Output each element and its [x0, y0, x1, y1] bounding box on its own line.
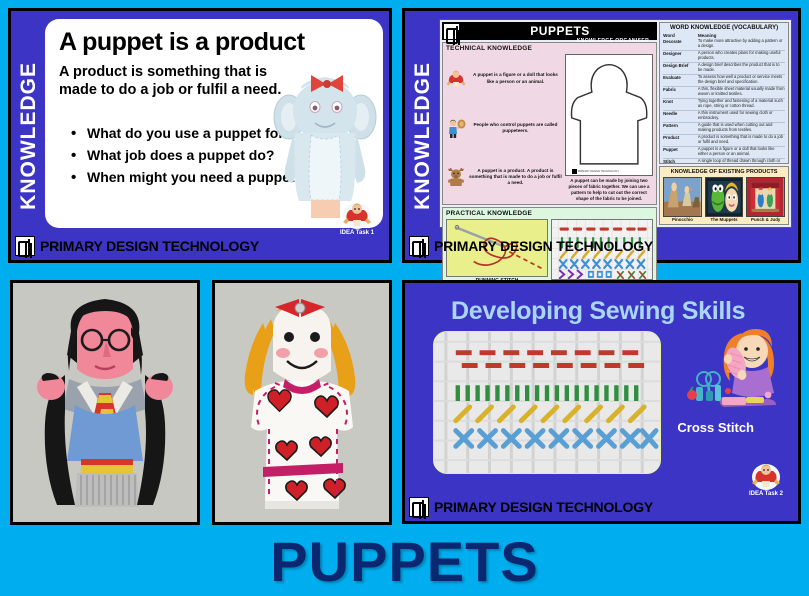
list-item: Pinocchio [663, 177, 702, 222]
knowledge-rail: KNOWLEDGE [15, 15, 41, 256]
vocabulary-meaning: Tying together and fastening of a materi… [698, 99, 785, 109]
vocabulary-table-body: DecorateTo make more attractive by addin… [663, 39, 785, 164]
vocabulary-meaning: A guide that is used when cutting out an… [698, 123, 785, 133]
technical-facts-list: A puppet is a figure or a doll that look… [446, 54, 562, 202]
organiser-right-column: WORD KNOWLEDGE (VOCABULARY) Word Meaning… [659, 22, 789, 225]
vocabulary-meaning: A thin, flexible sheet material usually … [698, 87, 785, 97]
photo-girl-puppet[interactable] [212, 280, 392, 525]
product-caption: Pinocchio [663, 217, 702, 222]
vocabulary-meaning: To make more attractive by adding a patt… [698, 39, 785, 49]
vocabulary-meaning: To assess how well a product or service … [698, 75, 785, 85]
table-row: FabricA thin, flexible sheet material us… [663, 86, 785, 98]
template-caption: A puppet can be made by joining two piec… [565, 176, 653, 202]
vocabulary-word: Designer [663, 51, 695, 61]
section-title: PRACTICAL KNOWLEDGE [446, 210, 653, 217]
table-row: DesignerA person who creates plans for m… [663, 50, 785, 62]
knowledge-organiser-sheet: PUPPETS KNOWLEDGE ORGANISER TECHNICAL KN… [439, 19, 792, 228]
slide-knowledge-organiser[interactable]: KNOWLEDGE PUPPETS KNOWLEDGE ORGANISER TE… [402, 8, 801, 263]
technical-knowledge-section: TECHNICAL KNOWLEDGE [442, 42, 657, 205]
fact-text: A puppet is a figure or a doll that look… [469, 72, 562, 84]
idea-task-badge: IDEA Task 1 [331, 201, 383, 236]
dt-logo-icon [409, 497, 429, 517]
vocabulary-meaning: A design brief describes the product tha… [698, 63, 785, 73]
slide-heading: Developing Sewing Skills [451, 297, 745, 326]
moose-puppet-icon [446, 167, 466, 187]
table-row: Design BriefA design brief describes the… [663, 62, 785, 74]
section-title: TECHNICAL KNOWLEDGE [446, 45, 653, 52]
slide-footer: PRIMARY DESIGN TECHNOLOGY [15, 235, 385, 257]
existing-products-section: KNOWLEDGE OF EXISTING PRODUCTS [659, 166, 789, 225]
fact-text: People who control puppets are called pu… [469, 122, 562, 134]
vocabulary-word: Evaluate [663, 75, 695, 85]
table-row: EvaluateTo assess how well a product or … [663, 74, 785, 86]
column-header-meaning: Meaning [698, 33, 785, 39]
footer-brand-text: PRIMARY DESIGN TECHNOLOGY [40, 238, 259, 254]
knowledge-rail-label: KNOWLEDGE [412, 62, 433, 210]
table-row: DecorateTo make more attractive by addin… [663, 39, 785, 50]
vocabulary-word: Decorate [663, 39, 695, 49]
vocabulary-meaning: A single loop of thread drawn through cl… [698, 159, 785, 163]
vocabulary-word: Needle [663, 111, 695, 121]
column-header-word: Word [663, 33, 695, 39]
photo-boy-puppet[interactable] [10, 280, 200, 525]
vocabulary-meaning: A product is something that is made to d… [698, 135, 785, 145]
table-row: PuppetA puppet is a figure or a doll tha… [663, 146, 785, 158]
table-row: KnotTying together and fastening of a ma… [663, 98, 785, 110]
vocabulary-meaning: A thin instrument used for sewing cloth … [698, 111, 785, 121]
slide-knowledge-puppet-is-a-product[interactable]: KNOWLEDGE A puppet is a product A produc… [8, 8, 392, 263]
page-title: PUPPETS [0, 534, 809, 590]
list-item: People who control puppets are called pu… [446, 118, 562, 138]
punch-puppet-icon [342, 201, 372, 229]
vocabulary-word: Knot [663, 99, 695, 109]
vocabulary-title: WORD KNOWLEDGE (VOCABULARY) [663, 25, 785, 31]
slide-footer: PRIMARY DESIGN TECHNOLOGY [409, 235, 794, 257]
cross-stitch-label: Cross Stitch [677, 420, 754, 435]
organiser-title: PUPPETS [530, 24, 590, 38]
vocabulary-meaning: A person who creates plans for making us… [698, 51, 785, 61]
footer-brand-text: PRIMARY DESIGN TECHNOLOGY [434, 499, 653, 515]
fact-text: A puppet is a product. A product is some… [469, 168, 562, 187]
girl-sewing-image [680, 323, 790, 418]
vocabulary-word: Stitch [663, 159, 695, 163]
slide-heading: A puppet is a product [59, 28, 383, 57]
muppets-image [705, 177, 744, 217]
knowledge-rail-label: KNOWLEDGE [18, 62, 39, 210]
stitch-sampler-image [433, 331, 661, 474]
slide-footer: PRIMARY DESIGN TECHNOLOGY [409, 496, 794, 518]
organiser-header: PUPPETS KNOWLEDGE ORGANISER [442, 22, 657, 40]
vocabulary-word: Pattern [663, 123, 695, 133]
punch-puppet-icon [446, 69, 466, 89]
organiser-subtitle: KNOWLEDGE ORGANISER [577, 38, 649, 44]
product-caption: Punch & Judy [746, 217, 785, 222]
girl-puppet-image [215, 283, 389, 522]
puppet-outline-shape [566, 55, 652, 175]
list-item: A puppet is a figure or a doll that look… [446, 69, 562, 89]
list-item: A puppet is a product. A product is some… [446, 167, 562, 187]
dt-logo-icon [15, 236, 35, 256]
pinocchio-image [663, 177, 702, 217]
puppet-template-image: PRIMARY DESIGN TECHNOLOGY [565, 54, 653, 176]
vocabulary-word: Puppet [663, 147, 695, 157]
slide-content-card: A puppet is a product A product is somet… [45, 19, 383, 228]
vocabulary-section: WORD KNOWLEDGE (VOCABULARY) Word Meaning… [659, 22, 789, 164]
vocabulary-word: Fabric [663, 87, 695, 97]
idea-task-badge: IDEA Task 2 [740, 462, 792, 497]
organiser-left-column: PUPPETS KNOWLEDGE ORGANISER TECHNICAL KN… [442, 22, 657, 225]
puppeteer-icon [446, 118, 466, 138]
template-illustration-block: PRIMARY DESIGN TECHNOLOGY A puppet can b… [565, 54, 653, 202]
footer-brand-text: PRIMARY DESIGN TECHNOLOGY [434, 238, 653, 254]
existing-products-list: Pinocchio [663, 177, 785, 222]
dt-logo-icon [409, 236, 429, 256]
vocabulary-word: Design Brief [663, 63, 695, 73]
dt-logo-icon [443, 23, 460, 40]
table-row: ProductA product is something that is ma… [663, 134, 785, 146]
list-item: Punch & Judy [746, 177, 785, 222]
knowledge-rail: KNOWLEDGE [409, 15, 435, 256]
existing-products-title: KNOWLEDGE OF EXISTING PRODUCTS [663, 169, 785, 175]
punch-puppet-icon [751, 462, 781, 490]
boy-puppet-image [13, 283, 197, 522]
list-item: The Muppets [705, 177, 744, 222]
vocabulary-word: Product [663, 135, 695, 145]
product-caption: The Muppets [705, 217, 744, 222]
table-row: NeedleA thin instrument used for sewing … [663, 110, 785, 122]
table-row: StitchA single loop of thread drawn thro… [663, 158, 785, 164]
slide-developing-sewing-skills[interactable]: Developing Sewing Skills [402, 280, 801, 524]
vocabulary-meaning: A puppet is a figure or a doll that look… [698, 147, 785, 157]
table-row: PatternA guide that is used when cutting… [663, 122, 785, 134]
punch-and-judy-image [746, 177, 785, 217]
